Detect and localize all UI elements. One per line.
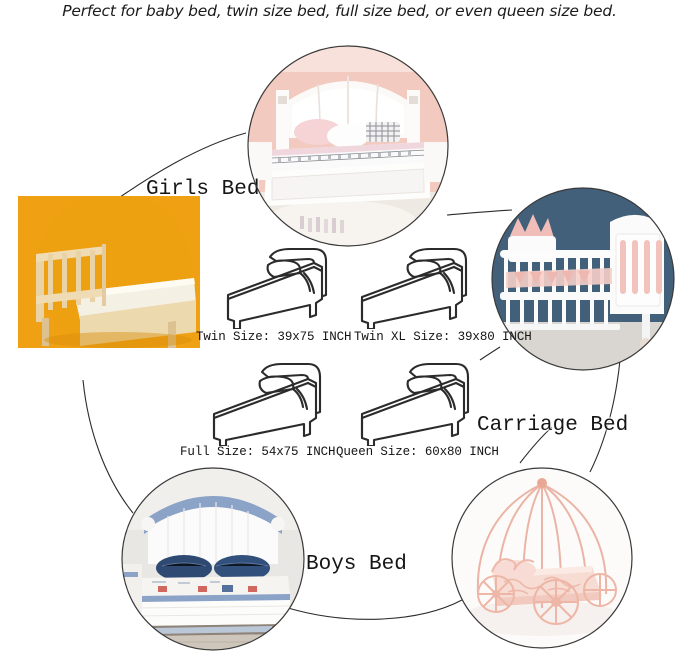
bed-icon-queen <box>352 360 476 446</box>
bubble-outlines-layer <box>0 0 679 656</box>
bed-icon-twin <box>218 243 332 329</box>
bed-size-infographic: Perfect for baby bed, twin size bed, ful… <box>0 0 679 656</box>
bed-icon-twin-xl <box>354 243 472 329</box>
caption-twin-xl-size: Twin XL Size: 39x80 INCH <box>354 330 532 344</box>
caption-twin-size: Twin Size: 39x75 INCH <box>196 330 351 344</box>
ring-carriage-bed <box>452 468 632 648</box>
ring-girls-bed <box>248 46 448 246</box>
caption-queen-size: Queen Size: 60x80 INCH <box>336 445 499 459</box>
bed-icon-full <box>204 360 328 446</box>
ring-boys-bed <box>122 468 304 650</box>
caption-full-size: Full Size: 54x75 INCH <box>180 445 335 459</box>
